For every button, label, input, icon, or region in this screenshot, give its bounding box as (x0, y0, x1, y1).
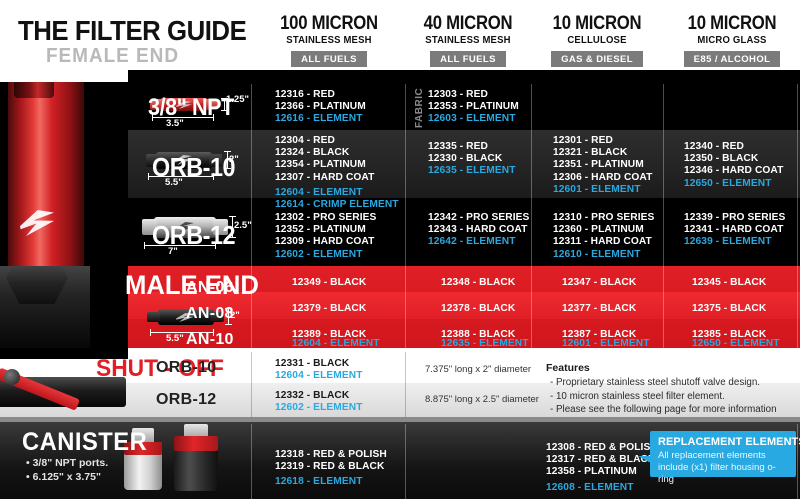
column-media-label: MICRO GLASS (667, 34, 796, 47)
parts-cell-orb10-100micron: 12304 - RED 12324 - BLACK 12354 - PLATIN… (275, 135, 399, 211)
callout-body-line2: include (x1) filter housing o-ring (658, 462, 789, 486)
part-number: 12304 - RED (275, 135, 399, 147)
column-fuel-badge: ALL FUELS (291, 51, 367, 67)
part-number-an06-10micron-microglass: 12345 - BLACK (692, 277, 766, 289)
filter-guide-sheet: THE FILTER GUIDE FEMALE END 100 MICRON S… (0, 0, 800, 499)
column-divider-canister-2 (405, 424, 406, 499)
red-bottle-cap (14, 82, 54, 98)
column-header-100-micron: 100 MICRON STAINLESS MESH ALL FUELS (254, 14, 404, 67)
dimension-length-label: 5.5" (166, 333, 184, 344)
parts-cell-shutoff-orb12: 12332 - BLACK 12602 - ELEMENT (275, 390, 363, 414)
part-number: 12321 - BLACK (553, 147, 652, 159)
feature-item: - Please see the following page for more… (550, 403, 777, 417)
part-number-an06-10micron-cellulose: 12347 - BLACK (562, 277, 636, 289)
part-number: 12335 - RED (428, 141, 516, 153)
feature-item: - Proprietary stainless steel shutoff va… (550, 376, 777, 390)
column-fuel-badge: ALL FUELS (430, 51, 506, 67)
column-header-10-micron-micro-glass: 10 MICRON MICRO GLASS E85 / ALCOHOL (664, 14, 800, 67)
part-number-an08-100micron: 12379 - BLACK (292, 303, 366, 315)
part-number: 12360 - PLATINUM (553, 224, 654, 236)
column-divider-3 (531, 84, 532, 348)
callout-body: All replacement elements include (x1) fi… (658, 450, 789, 486)
features-title: Features (546, 362, 590, 374)
parts-cell-orb10-40micron: 12335 - RED 12330 - BLACK 12635 - ELEMEN… (428, 141, 516, 178)
part-number: 12366 - PLATINUM (275, 101, 366, 113)
part-number: 12351 - PLATINUM (553, 159, 652, 171)
product-photo-male-fitting (0, 266, 128, 348)
part-number-an08-10micron-cellulose: 12377 - BLACK (562, 303, 636, 315)
column-media-label: CELLULOSE (535, 34, 659, 47)
part-number: 12346 - HARD COAT (684, 165, 783, 177)
parts-cell-canister-100micron: 12318 - RED & POLISH 12319 - RED & BLACK… (275, 449, 387, 489)
row-label-an06: AN-06 (186, 279, 234, 297)
part-number-an08-10micron-microglass: 12375 - BLACK (692, 303, 766, 315)
element-part-number: 12602 - ELEMENT (275, 249, 376, 261)
row-label-orb12: ORB-12 (152, 220, 235, 251)
column-fuel-badge: GAS & DIESEL (551, 51, 643, 67)
row-label-orb10: ORB-10 (152, 152, 235, 183)
parts-cell-npt-40micron: 12303 - RED 12353 - PLATINUM 12603 - ELE… (428, 89, 519, 126)
parts-cell-npt-100micron: 12316 - RED 12366 - PLATINUM 12616 - ELE… (275, 89, 366, 126)
parts-cell-orb10-10micron-cellulose: 12301 - RED 12321 - BLACK 12351 - PLATIN… (553, 135, 652, 196)
part-number: 12350 - BLACK (684, 153, 783, 165)
part-number: 12306 - HARD COAT (553, 172, 652, 184)
row-label-an08: AN-08 (186, 305, 234, 323)
part-number: 12311 - HARD COAT (553, 236, 654, 248)
element-part-number: 12602 - ELEMENT (275, 402, 363, 414)
part-number: 12303 - RED (428, 89, 519, 101)
replacement-elements-callout: REPLACEMENT ELEMENTS All replacement ele… (650, 431, 796, 477)
column-divider-2 (405, 84, 406, 348)
element-part-number: 12616 - ELEMENT (275, 113, 366, 125)
parts-cell-orb10-10micron-microglass: 12340 - RED 12350 - BLACK 12346 - HARD C… (684, 141, 783, 190)
element-part-number: 12604 - ELEMENT (275, 187, 399, 199)
element-part-number: 12635 - ELEMENT (428, 165, 516, 177)
header-underline (128, 70, 800, 82)
element-part-number-male-10micron-cellulose: 12601 - ELEMENT (562, 338, 650, 350)
parts-cell-orb12-100micron: 12302 - PRO SERIES 12352 - PLATINUM 1230… (275, 212, 376, 261)
column-divider-canister-1 (251, 424, 252, 499)
part-number: 12342 - PRO SERIES (428, 212, 529, 224)
part-number: 12309 - HARD COAT (275, 236, 376, 248)
column-divider-5 (797, 84, 798, 348)
element-part-number: 12650 - ELEMENT (684, 178, 783, 190)
row-label-an10: AN-10 (186, 331, 234, 349)
column-micron-label: 10 MICRON (672, 14, 792, 34)
column-divider-1 (251, 84, 252, 348)
element-part-number: 12604 - ELEMENT (275, 370, 363, 382)
parts-cell-orb12-40micron: 12342 - PRO SERIES 12343 - HARD COAT 126… (428, 212, 529, 249)
column-header-10-micron-cellulose: 10 MICRON CELLULOSE GAS & DIESEL (532, 14, 662, 67)
row-label-shutoff-orb10: ORB-10 (156, 359, 216, 377)
column-divider-shutoff-1 (251, 352, 252, 417)
male-filter-end-left (147, 312, 160, 322)
part-number-an06-40micron: 12348 - BLACK (441, 277, 515, 289)
shutoff-dimensions-orb12: 8.875" long x 2.5" diameter (425, 394, 539, 405)
element-part-number-male-10micron-microglass: 12650 - ELEMENT (692, 338, 780, 350)
canister-red-cap (174, 436, 218, 451)
parts-cell-canister-10micron-cellulose: 12308 - RED & POLISH 12317 - RED & BLACK… (546, 442, 658, 494)
part-number-an06-100micron: 12349 - BLACK (292, 277, 366, 289)
part-number: 12324 - BLACK (275, 147, 399, 159)
column-micron-label: 40 MICRON (413, 14, 522, 34)
element-part-number: 12639 - ELEMENT (684, 236, 785, 248)
part-number: 12341 - HARD COAT (684, 224, 785, 236)
female-end-subtitle: FEMALE END (46, 45, 179, 68)
features-list: - Proprietary stainless steel shutoff va… (550, 376, 777, 417)
callout-body-line1: All replacement elements (658, 450, 789, 462)
page-title: THE FILTER GUIDE (18, 15, 246, 47)
feature-item: - 10 micron stainless steel filter eleme… (550, 390, 777, 404)
parts-cell-orb12-10micron-microglass: 12339 - PRO SERIES 12341 - HARD COAT 126… (684, 212, 785, 249)
element-part-number: 12603 - ELEMENT (428, 113, 519, 125)
dimension-diameter-label: 2.5" (234, 220, 252, 231)
part-number: 12308 - RED & POLISH (546, 442, 658, 454)
shutoff-dimensions-orb10: 7.375" long x 2" diameter (425, 364, 531, 375)
part-number: 12332 - BLACK (275, 390, 363, 402)
part-number: 12343 - HARD COAT (428, 224, 529, 236)
canister-spec-ports: • 3/8" NPT ports. (26, 456, 108, 470)
part-number: 12339 - PRO SERIES (684, 212, 785, 224)
canister-spec-size: • 6.125" x 3.75" (26, 470, 108, 484)
part-number: 12340 - RED (684, 141, 783, 153)
element-part-number: 12618 - ELEMENT (275, 476, 387, 488)
element-part-number: 12610 - ELEMENT (553, 249, 654, 261)
part-number: 12354 - PLATINUM (275, 159, 399, 171)
row-label-npt: 3/8" NPT (148, 94, 234, 122)
part-number: 12353 - PLATINUM (428, 101, 519, 113)
shutoff-pivot (4, 369, 20, 385)
column-fuel-badge: E85 / ALCOHOL (684, 51, 781, 67)
part-number: 12358 - PLATINUM (546, 466, 658, 478)
part-number: 12310 - PRO SERIES (553, 212, 654, 224)
element-part-number-male-100micron: 12604 - ELEMENT (292, 338, 380, 350)
element-part-number: 12601 - ELEMENT (553, 184, 652, 196)
part-number: 12316 - RED (275, 89, 366, 101)
part-number: 12302 - PRO SERIES (275, 212, 376, 224)
element-part-number-male-40micron: 12635 - ELEMENT (441, 338, 529, 350)
canister-specs: • 3/8" NPT ports. • 6.125" x 3.75" (26, 456, 108, 484)
row-label-shutoff-orb12: ORB-12 (156, 391, 216, 409)
callout-title: REPLACEMENT ELEMENTS (658, 436, 784, 448)
parts-cell-orb12-10micron-cellulose: 12310 - PRO SERIES 12360 - PLATINUM 1231… (553, 212, 654, 261)
element-part-number: 12642 - ELEMENT (428, 236, 529, 248)
parts-cell-shutoff-orb10: 12331 - BLACK 12604 - ELEMENT (275, 358, 363, 382)
part-number: 12319 - RED & BLACK (275, 461, 387, 473)
fabric-note-label: FABRIC (414, 88, 425, 128)
column-micron-label: 100 MICRON (263, 14, 395, 34)
column-header-40-micron: 40 MICRON STAINLESS MESH ALL FUELS (406, 14, 530, 67)
section-label-canister: CANISTER (22, 428, 147, 457)
column-micron-label: 10 MICRON (540, 14, 654, 34)
part-number: 12301 - RED (553, 135, 652, 147)
part-number: 12318 - RED & POLISH (275, 449, 387, 461)
part-number: 12330 - BLACK (428, 153, 516, 165)
part-number: 12307 - HARD COAT (275, 172, 399, 184)
part-number: 12352 - PLATINUM (275, 224, 376, 236)
column-divider-shutoff-2 (405, 352, 406, 417)
element-part-number: 12614 - CRIMP ELEMENT (275, 199, 399, 211)
part-number-an08-40micron: 12378 - BLACK (441, 303, 515, 315)
canister-black (174, 436, 218, 491)
column-divider-4 (663, 84, 664, 348)
column-media-label: STAINLESS MESH (258, 34, 401, 47)
part-number: 12331 - BLACK (275, 358, 363, 370)
element-part-number: 12608 - ELEMENT (546, 482, 658, 494)
column-media-label: STAINLESS MESH (409, 34, 527, 47)
